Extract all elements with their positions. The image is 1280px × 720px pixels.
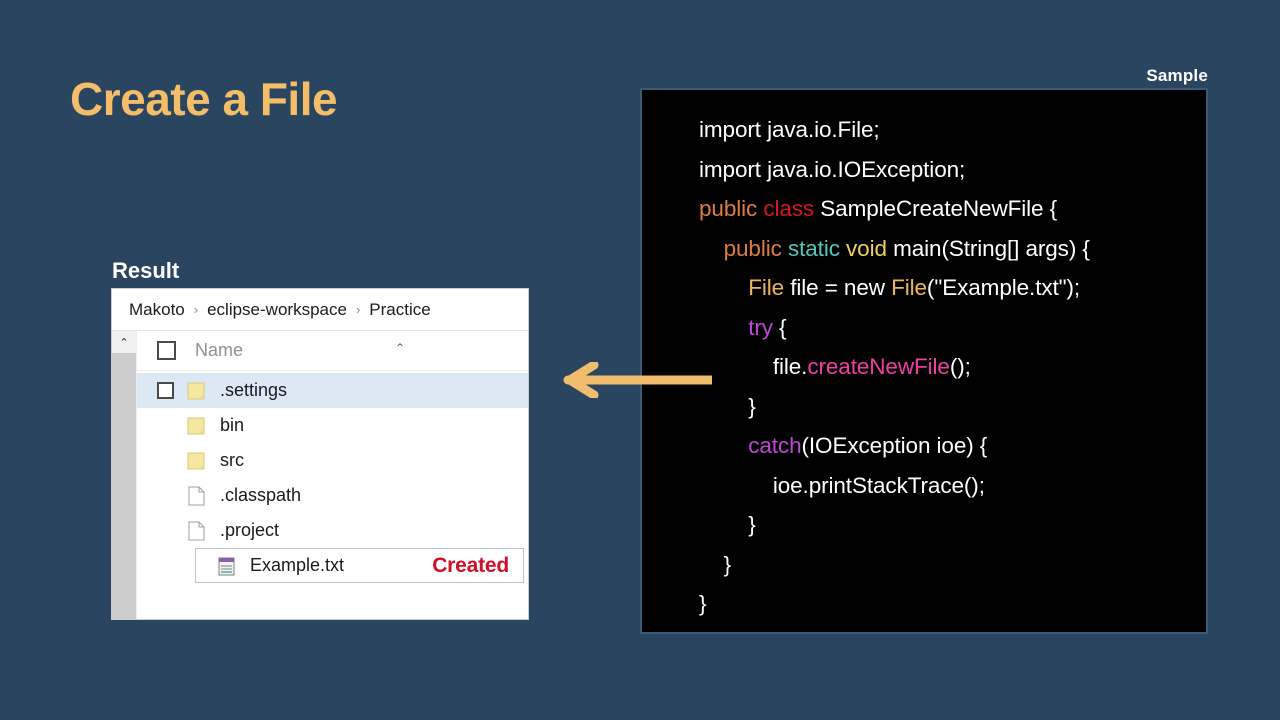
file-name[interactable]: .settings: [220, 380, 287, 401]
code-token-public: public: [699, 236, 782, 261]
scroll-up-icon[interactable]: ⌃: [112, 331, 136, 353]
code-token-plain: }: [699, 512, 756, 537]
page-title: Create a File: [70, 72, 337, 126]
breadcrumb[interactable]: Makoto›eclipse-workspace›Practice: [112, 289, 528, 331]
code-line: }: [642, 584, 1206, 624]
result-arrow: [538, 362, 712, 398]
code-token-plain: {: [773, 315, 787, 340]
code-token-plain: SampleCreateNewFile {: [814, 196, 1057, 221]
folder-icon: [186, 380, 208, 402]
code-token-method: createNewFile: [807, 354, 950, 379]
code-line: import java.io.File;: [642, 110, 1206, 150]
column-header-name[interactable]: Name: [195, 340, 243, 361]
code-token-plain: import java.io.File;: [699, 117, 880, 142]
code-line: try {: [642, 308, 1206, 348]
explorer-body: ⌃ Name ⌃ .settingsbinsrc.classpath.proje…: [112, 331, 528, 619]
sample-caption: Sample: [1146, 66, 1208, 86]
code-token-plain: file.: [699, 354, 807, 379]
breadcrumb-item-eclipse-workspace[interactable]: eclipse-workspace: [207, 300, 347, 320]
breadcrumb-item-makoto[interactable]: Makoto: [129, 300, 185, 320]
code-line: File file = new File("Example.txt");: [642, 268, 1206, 308]
file-row[interactable]: bin: [137, 408, 528, 443]
file-explorer-window: Makoto›eclipse-workspace›Practice ⌃ Name…: [111, 288, 529, 620]
code-token-plain: }: [699, 552, 731, 577]
file-row[interactable]: .settings: [137, 373, 528, 408]
code-token-type: File: [891, 275, 927, 300]
file-name[interactable]: Example.txt: [250, 555, 344, 576]
file-name[interactable]: .classpath: [220, 485, 301, 506]
code-token-class: class: [763, 196, 814, 221]
file-row[interactable]: .classpath: [137, 478, 528, 513]
code-line: public static void main(String[] args) {: [642, 229, 1206, 269]
folder-icon: [186, 450, 208, 472]
file-row[interactable]: src: [137, 443, 528, 478]
created-badge: Created: [432, 554, 509, 578]
breadcrumb-item-practice[interactable]: Practice: [369, 300, 430, 320]
row-checkbox[interactable]: [157, 382, 174, 399]
notepad-icon: [216, 555, 238, 577]
breadcrumb-separator-icon: ›: [194, 303, 198, 316]
result-label: Result: [112, 258, 179, 284]
select-all-checkbox[interactable]: [157, 341, 176, 360]
scrollbar-thumb[interactable]: [112, 353, 136, 619]
file-row[interactable]: Example.txtCreated: [195, 548, 524, 583]
code-token-static: static: [788, 236, 840, 261]
explorer-main: Name ⌃ .settingsbinsrc.classpath.project…: [137, 331, 528, 619]
code-token-keyword: try: [699, 315, 773, 340]
code-line: file.createNewFile();: [642, 347, 1206, 387]
sort-ascending-icon[interactable]: ⌃: [395, 341, 405, 355]
file-name[interactable]: src: [220, 450, 244, 471]
code-token-plain: ("Example.txt");: [927, 275, 1080, 300]
code-line: }: [642, 545, 1206, 585]
code-token-plain: main(String[] args) {: [887, 236, 1090, 261]
column-header[interactable]: Name ⌃: [137, 331, 528, 371]
code-line: }: [642, 387, 1206, 427]
code-token-keyword: catch: [699, 433, 802, 458]
breadcrumb-separator-icon: ›: [356, 303, 360, 316]
code-token-plain: import java.io.IOException;: [699, 157, 965, 182]
code-line: catch(IOException ioe) {: [642, 426, 1206, 466]
arrow-left-icon: [538, 362, 712, 398]
code-token-plain: (IOException ioe) {: [802, 433, 988, 458]
vertical-scrollbar[interactable]: ⌃: [112, 331, 137, 619]
code-token-type: File: [699, 275, 784, 300]
file-list: .settingsbinsrc.classpath.projectExample…: [137, 371, 528, 619]
code-line: import java.io.IOException;: [642, 150, 1206, 190]
code-line: public class SampleCreateNewFile {: [642, 189, 1206, 229]
code-token-plain: }: [699, 591, 706, 616]
code-token-plain: file = new: [784, 275, 891, 300]
file-row[interactable]: .project: [137, 513, 528, 548]
folder-icon: [186, 415, 208, 437]
code-panel: import java.io.File;import java.io.IOExc…: [640, 88, 1208, 634]
code-token-void: void: [846, 236, 887, 261]
code-line: ioe.printStackTrace();: [642, 466, 1206, 506]
code-token-plain: ioe.printStackTrace();: [699, 473, 985, 498]
file-name[interactable]: bin: [220, 415, 244, 436]
file-name[interactable]: .project: [220, 520, 279, 541]
file-icon: [186, 485, 208, 507]
file-icon: [186, 520, 208, 542]
code-token-plain: ();: [950, 354, 971, 379]
code-token-public: public: [699, 196, 757, 221]
code-line: }: [642, 505, 1206, 545]
